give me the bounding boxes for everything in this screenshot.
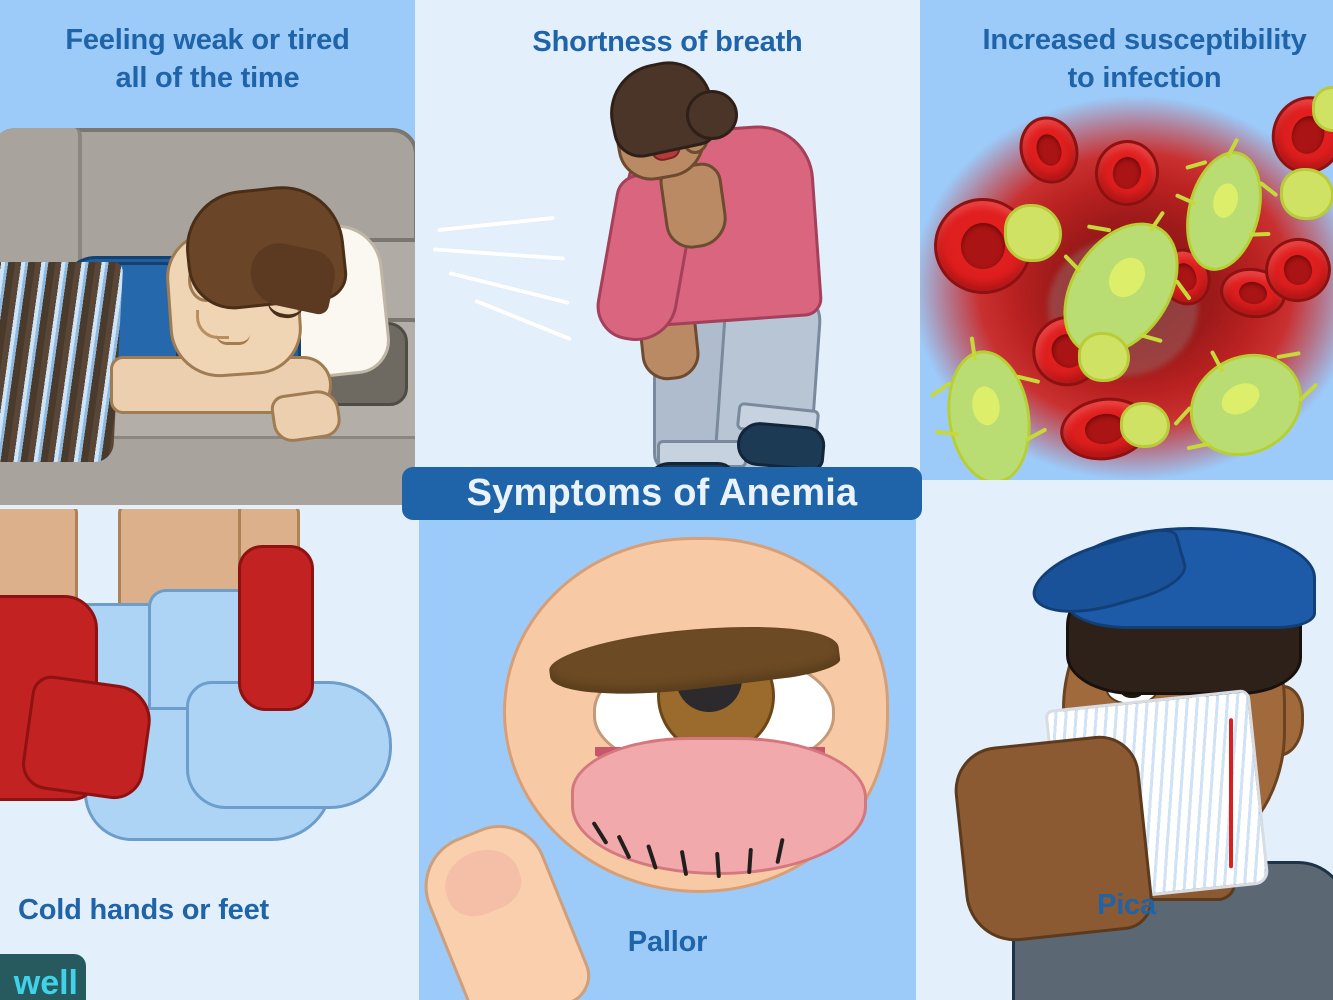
panel-caption-increased-susceptibility: Increased susceptibility to infection [934, 22, 1333, 97]
panel-caption-pallor: Pallor [419, 924, 916, 962]
caption-line-1: Shortness of breath [419, 24, 916, 62]
virus-particle [1078, 332, 1130, 382]
caption-line-2: to infection [934, 60, 1333, 98]
panel-feeling-weak: Feeling weak or tired all of the time [0, 0, 415, 505]
caption-line-1: Cold hands or feet [0, 892, 415, 930]
breath-line-2 [433, 247, 565, 260]
mitten-left-thumb [19, 673, 156, 803]
verywell-logo-text: well [14, 966, 86, 1000]
verywell-logo: well [0, 954, 86, 1000]
panel-caption-pica: Pica [920, 887, 1333, 925]
woman-shoe-back [735, 420, 827, 472]
panel-increased-susceptibility: Increased susceptibility to infection [920, 0, 1333, 480]
panel-pallor: Pallor [419, 509, 916, 1000]
breath-line-4 [474, 299, 572, 342]
panel-caption-cold-hands-or-feet: Cold hands or feet [0, 892, 415, 930]
fingernail [435, 839, 529, 925]
flagellum [1248, 232, 1270, 237]
panel-cold-hands-or-feet: Cold hands or feet well [0, 509, 415, 1000]
caption-line-2: all of the time [0, 60, 415, 98]
infographic-canvas: Feeling weak or tired all of the time [0, 0, 1333, 1000]
mitten-right [238, 545, 314, 711]
breath-line-1 [437, 216, 555, 232]
virus-particle [1120, 402, 1170, 448]
panel-pica: Pica [920, 509, 1333, 1000]
panel-shortness-of-breath: Shortness of breath [419, 0, 916, 505]
illustration-woman-short-of-breath [419, 0, 916, 505]
caption-line-1: Pallor [419, 924, 916, 962]
breath-line-3 [448, 271, 569, 305]
caption-line-1: Increased susceptibility [934, 22, 1333, 60]
title-banner: Symptoms of Anemia [402, 467, 922, 520]
paper-red-line [1229, 718, 1233, 868]
virus-particle [1004, 204, 1062, 262]
caption-line-1: Feeling weak or tired [0, 22, 415, 60]
virus-particle [1280, 168, 1333, 220]
infographic-title: Symptoms of Anemia [467, 472, 858, 515]
panel-caption-feeling-weak: Feeling weak or tired all of the time [0, 22, 415, 97]
woman-hair-bun [686, 90, 738, 140]
panel-caption-shortness-of-breath: Shortness of breath [419, 24, 916, 62]
striped-blanket [0, 262, 123, 462]
caption-line-1: Pica [920, 887, 1333, 925]
